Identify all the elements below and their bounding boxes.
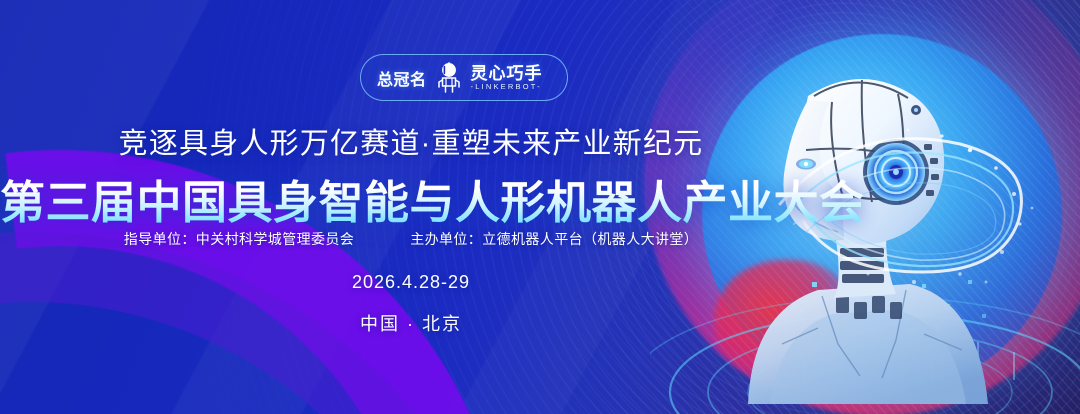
banner-subtitle: 竞逐具身人形万亿赛道·重塑未来产业新纪元 [0,120,1080,162]
event-location: 中国 · 北京 [0,310,1080,336]
host-unit: 主办单位：立德机器人平台（机器人大讲堂） [410,229,698,249]
sponsor-brand: 灵心巧手 -LINKERBOT- [471,65,543,91]
event-date: 2026.4.28-29 [0,272,1080,293]
sponsor-badge-label: 总冠名 [377,66,427,90]
sponsor-brand-en: -LINKERBOT- [471,83,543,91]
organizer-line: 指导单位：中关村科学城管理委员会 主办单位：立德机器人平台（机器人大讲堂） [0,229,1080,249]
sponsor-badge: 总冠名 灵心巧手 -LINKERBOT- [360,54,568,101]
conference-banner: 总冠名 灵心巧手 -LINKERBOT- 竞逐具身人 [0,0,1080,414]
guidance-unit: 指导单位：中关村科学城管理委员会 [124,229,354,249]
banner-main-title: 第三届中国具身智能与人形机器人产业大会 [0,166,1080,231]
robot-mascot-icon [436,62,462,94]
sponsor-brand-cn: 灵心巧手 [471,65,543,82]
